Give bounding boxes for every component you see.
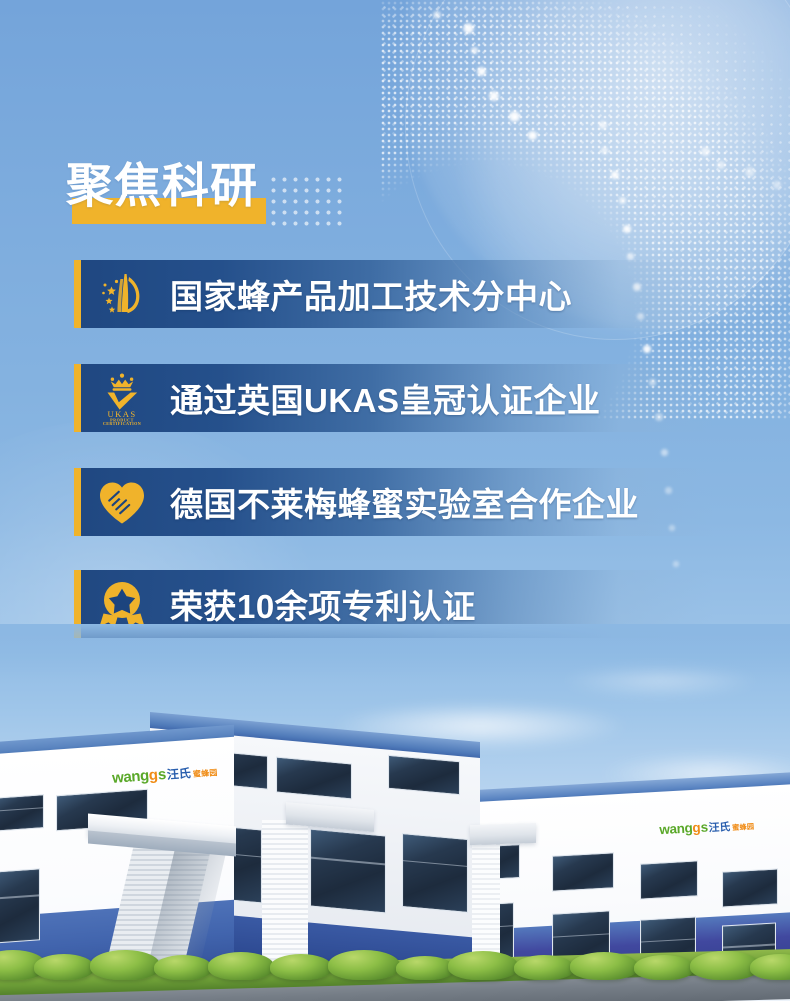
- brand-logo-chinese: 汪氏: [166, 767, 191, 781]
- feature-item-patents[interactable]: 荣获10余项专利认证: [74, 570, 714, 638]
- feature-item-bremen-lab[interactable]: 德国不莱梅蜂蜜实验室合作企业: [74, 468, 714, 536]
- bokeh-bead: [642, 344, 652, 354]
- shrub-row: [0, 936, 790, 980]
- bokeh-bead: [700, 146, 711, 157]
- brand-logo-s: s: [157, 767, 166, 783]
- bokeh-bead: [462, 22, 475, 35]
- ukas-crown-certification-icon: UKAS PRODUCT CERTIFICATION: [94, 370, 150, 426]
- feature-item-ukas[interactable]: UKAS PRODUCT CERTIFICATION 通过英国UKAS皇冠认证企…: [74, 364, 714, 432]
- bokeh-bead: [622, 224, 632, 234]
- brand-logo-subtitle: 蜜蜂园: [732, 824, 755, 832]
- window: [640, 860, 698, 899]
- bokeh-bead: [610, 170, 620, 180]
- window: [0, 794, 44, 832]
- feature-label: 国家蜂产品加工技术分中心: [170, 270, 572, 318]
- brand-logo-subtitle: 蜜蜂园: [193, 769, 218, 779]
- window: [552, 852, 614, 891]
- shrub: [570, 952, 638, 980]
- factory-building-photo: [0, 624, 790, 1001]
- award-medal-star-icon: [94, 576, 150, 632]
- brand-logo-wang: wang: [659, 822, 693, 837]
- shrub: [90, 950, 160, 980]
- shrub: [750, 954, 790, 980]
- section-title: 聚焦科研: [66, 158, 366, 230]
- monument-stars-icon: [94, 266, 150, 322]
- shrub: [328, 950, 400, 980]
- svg-text:CERTIFICATION: CERTIFICATION: [103, 421, 141, 425]
- window: [310, 829, 386, 914]
- page-title: 聚焦科研: [66, 158, 258, 214]
- bokeh-bead: [744, 166, 756, 178]
- shrub: [448, 951, 518, 980]
- brand-logo-chinese: 汪氏: [708, 821, 730, 833]
- feature-item-national-center[interactable]: 国家蜂产品加工技术分中心: [74, 260, 714, 328]
- window: [276, 757, 352, 800]
- feature-accent-bar: [74, 570, 81, 638]
- bokeh-bead: [488, 90, 500, 102]
- feature-label: 荣获10余项专利认证: [170, 580, 476, 628]
- shrub: [270, 954, 332, 980]
- window: [722, 868, 778, 907]
- feature-accent-bar: [74, 364, 81, 432]
- brand-logo-s: s: [700, 821, 708, 835]
- shrub: [514, 955, 574, 980]
- feature-label: 德国不莱梅蜂蜜实验室合作企业: [170, 478, 639, 526]
- window: [0, 868, 40, 943]
- window: [402, 833, 468, 913]
- bokeh-bead: [527, 130, 538, 141]
- bokeh-bead: [660, 448, 669, 457]
- bokeh-bead: [600, 146, 609, 155]
- poster-stage: 聚焦科研: [0, 0, 790, 1001]
- bokeh-bead: [476, 66, 487, 77]
- bokeh-bead: [470, 46, 479, 55]
- bokeh-bead: [672, 560, 680, 568]
- bokeh-bead: [432, 10, 442, 20]
- feature-accent-bar: [74, 260, 81, 328]
- window: [388, 755, 460, 796]
- shrub: [154, 955, 212, 980]
- shrub: [634, 955, 694, 980]
- bokeh-bead: [598, 120, 608, 130]
- shrub: [34, 954, 94, 980]
- bokeh-bead: [772, 180, 782, 190]
- bokeh-bead: [618, 196, 627, 205]
- shrub: [396, 956, 454, 980]
- title-dot-grid-decoration: [266, 172, 348, 228]
- bokeh-bead: [508, 110, 521, 123]
- cloud-wisp: [560, 664, 760, 698]
- feature-accent-bar: [74, 468, 81, 536]
- heart-handshake-icon: [94, 474, 150, 530]
- bokeh-bead: [716, 160, 726, 170]
- brand-logo-wang: wang: [112, 768, 150, 786]
- shrub: [208, 952, 274, 980]
- feature-label: 通过英国UKAS皇冠认证企业: [170, 374, 601, 422]
- window-awning: [470, 823, 536, 845]
